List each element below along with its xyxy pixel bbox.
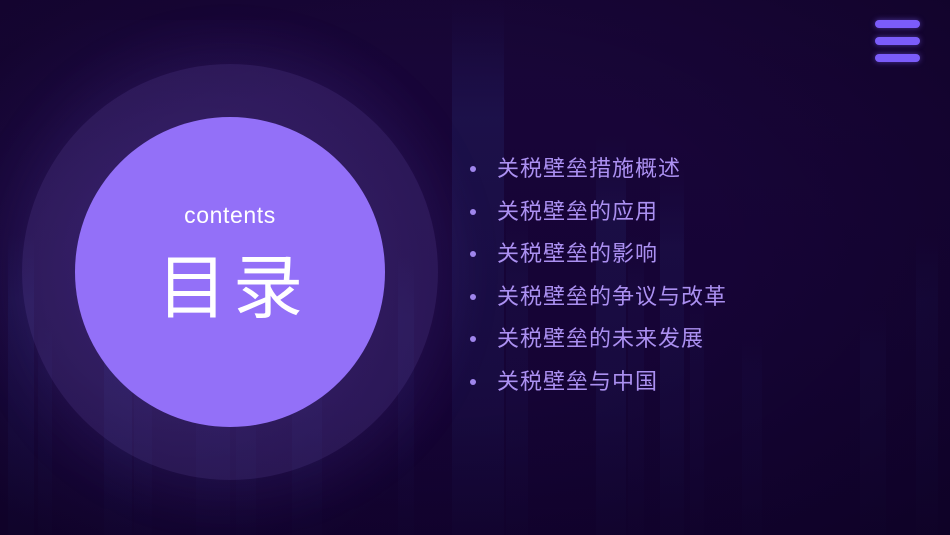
contents-list: 关税壁垒措施概述关税壁垒的应用关税壁垒的影响关税壁垒的争议与改革关税壁垒的未来发… (470, 148, 910, 403)
contents-badge-circle: contents 目录 (75, 117, 385, 427)
contents-list-item[interactable]: 关税壁垒与中国 (470, 361, 910, 404)
contents-list-item[interactable]: 关税壁垒措施概述 (470, 148, 910, 191)
contents-list-item[interactable]: 关税壁垒的未来发展 (470, 318, 910, 361)
bullet-dot-icon (470, 294, 476, 300)
contents-list-item-label: 关税壁垒的影响 (497, 243, 658, 265)
contents-list-item-label: 关税壁垒的争议与改革 (497, 286, 727, 308)
hamburger-bar-middle-icon (875, 37, 920, 45)
hamburger-bar-top-icon (875, 20, 920, 28)
bullet-dot-icon (470, 379, 476, 385)
hamburger-bar-bottom-icon (875, 54, 920, 62)
contents-list-item-label: 关税壁垒与中国 (497, 371, 658, 393)
contents-label-en: contents (184, 204, 276, 227)
background-band (916, 235, 938, 535)
contents-list-item-label: 关税壁垒的未来发展 (497, 328, 704, 350)
hamburger-menu-button[interactable] (872, 16, 922, 66)
bullet-dot-icon (470, 209, 476, 215)
slide-canvas: contents 目录 关税壁垒措施概述关税壁垒的应用关税壁垒的影响关税壁垒的争… (0, 0, 950, 535)
contents-list-item[interactable]: 关税壁垒的争议与改革 (470, 276, 910, 319)
bullet-dot-icon (470, 251, 476, 257)
bullet-dot-icon (470, 166, 476, 172)
contents-list-item[interactable]: 关税壁垒的应用 (470, 191, 910, 234)
contents-label-cn: 目录 (151, 253, 309, 323)
bullet-dot-icon (470, 336, 476, 342)
contents-list-item-label: 关税壁垒措施概述 (497, 158, 681, 180)
contents-list-item[interactable]: 关税壁垒的影响 (470, 233, 910, 276)
contents-list-item-label: 关税壁垒的应用 (497, 201, 658, 223)
